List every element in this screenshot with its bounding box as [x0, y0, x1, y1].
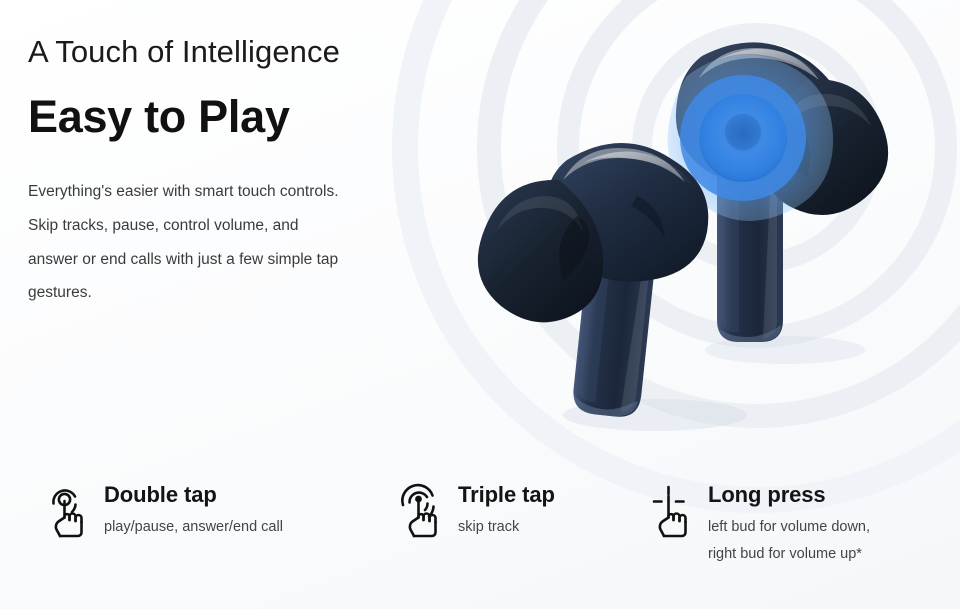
feature-subtitle-line: right bud for volume up* — [708, 543, 870, 566]
product-feature-banner: A Touch of Intelligence Easy to Play Eve… — [0, 0, 960, 609]
left-earbud — [478, 143, 708, 419]
feature-title: Double tap — [104, 482, 217, 507]
hero-headline: Easy to Play — [28, 92, 428, 142]
long-press-hand-icon — [648, 481, 696, 539]
feature-long-press: Long press left bud for volume down, rig… — [648, 479, 870, 566]
feature-triple-tap: Triple tap skip track — [398, 479, 555, 539]
feature-title: Triple tap — [458, 482, 555, 507]
feature-text-block: Triple tap skip track — [458, 479, 555, 539]
hero-copy-block: A Touch of Intelligence Easy to Play Eve… — [28, 34, 428, 310]
hero-body-text: Everything's easier with smart touch con… — [28, 175, 343, 310]
gesture-feature-row: Double tap play/pause, answer/end call — [0, 469, 960, 609]
feature-subtitle-line: play/pause, answer/end call — [104, 516, 283, 539]
hero-eyebrow: A Touch of Intelligence — [28, 34, 428, 70]
feature-subtitle-line: left bud for volume down, — [708, 516, 870, 539]
feature-text-block: Long press left bud for volume down, rig… — [708, 479, 870, 566]
feature-title: Long press — [708, 482, 826, 507]
feature-double-tap: Double tap play/pause, answer/end call — [44, 479, 283, 539]
feature-text-block: Double tap play/pause, answer/end call — [104, 479, 283, 539]
triple-tap-hand-icon — [398, 481, 446, 539]
feature-subtitle-line: skip track — [458, 516, 555, 539]
double-tap-hand-icon — [44, 481, 92, 539]
earbuds-product-image — [455, 20, 960, 450]
